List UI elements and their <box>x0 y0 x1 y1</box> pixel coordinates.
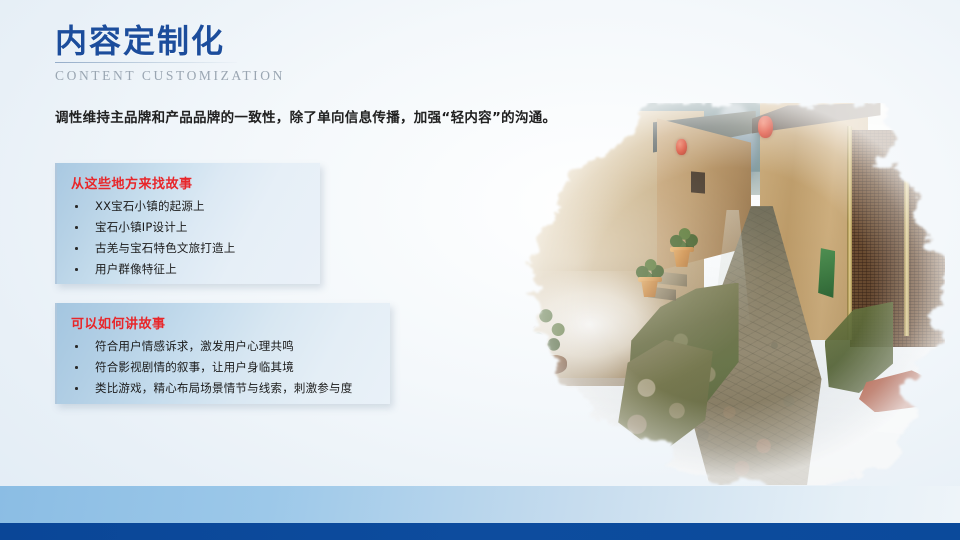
list-item: 符合用户情感诉求，激发用户心理共鸣 <box>69 336 376 357</box>
footer-light-band <box>0 486 960 524</box>
lead-statement: 调性维持主品牌和产品品牌的一致性，除了单向信息传播，加强“轻内容”的沟通。 <box>55 106 556 126</box>
bullet-list: 符合用户情感诉求，激发用户心理共鸣 符合影视剧情的叙事，让用户身临其境 类比游戏… <box>69 336 376 399</box>
slide-header: 内容定制化 CONTENT CUSTOMIZATION <box>55 24 575 84</box>
list-item: 类比游戏，精心布局场景情节与线索，刺激参与度 <box>69 378 376 399</box>
list-item: 古羌与宝石特色文旅打造上 <box>69 238 306 259</box>
content-panel-sources: 从这些地方来找故事 XX宝石小镇的起源上 宝石小镇IP设计上 古羌与宝石特色文旅… <box>55 163 320 284</box>
list-item: 宝石小镇IP设计上 <box>69 217 306 238</box>
list-item: 符合影视剧情的叙事，让用户身临其境 <box>69 357 376 378</box>
panel-heading: 从这些地方来找故事 <box>71 173 306 192</box>
bullet-list: XX宝石小镇的起源上 宝石小镇IP设计上 古羌与宝石特色文旅打造上 用户群像特征… <box>69 196 306 280</box>
slide-canvas: 内容定制化 CONTENT CUSTOMIZATION 调性维持主品牌和产品品牌… <box>0 0 960 540</box>
page-title: 内容定制化 <box>55 24 575 60</box>
photo-image <box>515 103 945 485</box>
list-item: XX宝石小镇的起源上 <box>69 196 306 217</box>
title-underline-rule <box>55 62 237 63</box>
village-alley-photo <box>515 103 945 485</box>
list-item: 用户群像特征上 <box>69 259 306 280</box>
panel-heading: 可以如何讲故事 <box>71 313 376 332</box>
footer-dark-band <box>0 523 960 540</box>
page-subtitle: CONTENT CUSTOMIZATION <box>55 68 575 84</box>
content-panel-methods: 可以如何讲故事 符合用户情感诉求，激发用户心理共鸣 符合影视剧情的叙事，让用户身… <box>55 303 390 404</box>
